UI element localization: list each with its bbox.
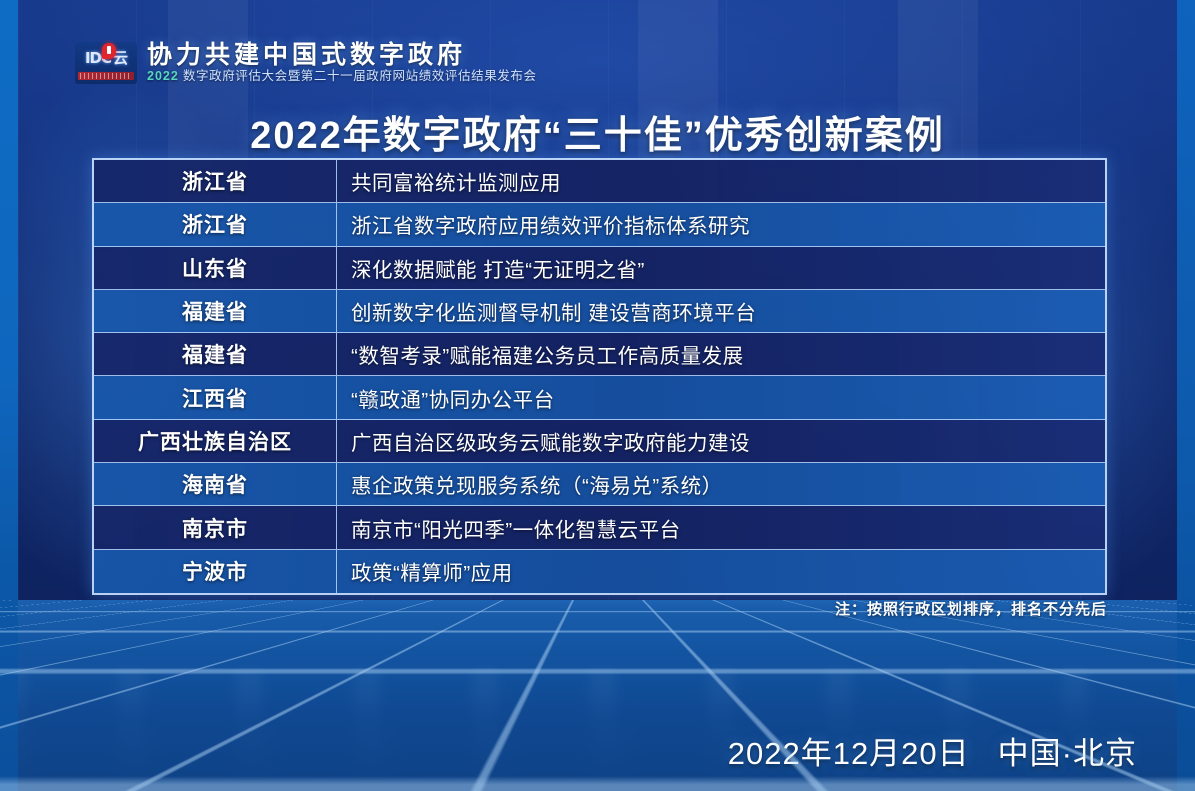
table-row: 福建省创新数字化监测督导机制 建设营商环境平台 [94,290,1105,333]
table-row: 宁波市政策“精算师”应用 [94,550,1105,593]
cell-case-title: 共同富裕统计监测应用 [337,160,1105,202]
cell-region: 海南省 [94,463,337,505]
emblem-banner [78,72,134,80]
cell-case-title: 创新数字化监测督导机制 建设营商环境平台 [337,290,1105,332]
table-row: 海南省惠企政策兑现服务系统（“海易兑”系统） [94,463,1105,506]
award-case-table: 浙江省共同富裕统计监测应用浙江省浙江省数字政府应用绩效评价指标体系研究山东省深化… [92,158,1107,595]
emblem-pin-icon [102,43,116,59]
table-footnote: 注：按照行政区划排序，排名不分先后 [835,598,1107,619]
cell-region: 宁波市 [94,550,337,593]
table-row: 广西壮族自治区广西自治区级政务云赋能数字政府能力建设 [94,420,1105,463]
cell-region: 南京市 [94,506,337,548]
slide-title: 2022年数字政府“三十佳”优秀创新案例 [0,104,1195,159]
cell-region: 广西壮族自治区 [94,420,337,462]
cell-region: 福建省 [94,333,337,375]
conference-title: 协力共建中国式数字政府 [147,42,537,68]
cell-region: 浙江省 [94,203,337,245]
conference-title-block: 协力共建中国式数字政府 2022 数字政府评估大会暨第二十一届政府网站绩效评估结… [147,42,537,84]
footer-date: 2022年12月20日 [728,728,970,773]
conference-subtitle-year: 2022 [147,69,179,83]
cell-case-title: 深化数据赋能 打造“无证明之省” [337,247,1105,289]
cell-case-title: “数智考录”赋能福建公务员工作高质量发展 [337,333,1105,375]
slide-footer: 2022年12月20日 中国·北京 [728,728,1137,773]
cell-case-title: 南京市“阳光四季”一体化智慧云平台 [337,506,1105,548]
table-row: 山东省深化数据赋能 打造“无证明之省” [94,247,1105,290]
cell-case-title: 浙江省数字政府应用绩效评价指标体系研究 [337,203,1105,245]
cell-region: 江西省 [94,376,337,418]
presentation-stage: IDC 云 协力共建中国式数字政府 2022 数字政府评估大会暨第二十一届政府网… [0,0,1195,791]
table-row: 南京市南京市“阳光四季”一体化智慧云平台 [94,506,1105,549]
conference-header: IDC 云 协力共建中国式数字政府 2022 数字政府评估大会暨第二十一届政府网… [75,42,537,84]
conference-subtitle-text: 数字政府评估大会暨第二十一届政府网站绩效评估结果发布会 [183,69,537,83]
cell-region: 山东省 [94,247,337,289]
table-row: 浙江省共同富裕统计监测应用 [94,160,1105,203]
cell-case-title: 政策“精算师”应用 [337,550,1105,593]
cell-case-title: 惠企政策兑现服务系统（“海易兑”系统） [337,463,1105,505]
cell-case-title: 广西自治区级政务云赋能数字政府能力建设 [337,420,1105,462]
table-row: 江西省“赣政通”协同办公平台 [94,376,1105,419]
table-row: 福建省“数智考录”赋能福建公务员工作高质量发展 [94,333,1105,376]
footer-place: 中国·北京 [998,728,1137,773]
conference-emblem-icon: IDC 云 [75,42,137,84]
cell-region: 浙江省 [94,160,337,202]
table-row: 浙江省浙江省数字政府应用绩效评价指标体系研究 [94,203,1105,246]
cell-region: 福建省 [94,290,337,332]
cell-case-title: “赣政通”协同办公平台 [337,376,1105,418]
conference-subtitle: 2022 数字政府评估大会暨第二十一届政府网站绩效评估结果发布会 [147,70,537,84]
